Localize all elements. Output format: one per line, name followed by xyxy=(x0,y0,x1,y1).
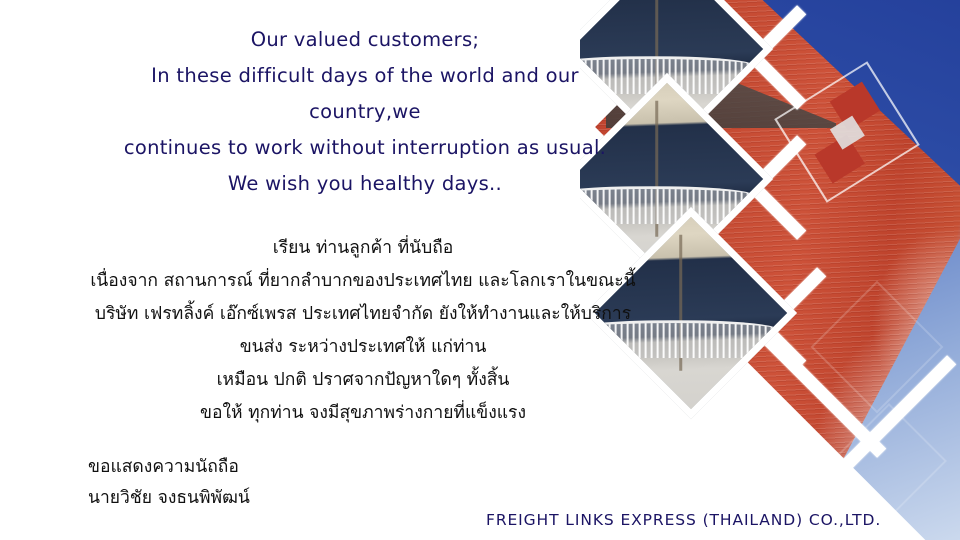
thai-line-6: ขอให้ ทุกท่าน จงมีสุขภาพร่างกายที่แข็งแร… xyxy=(0,397,726,430)
english-message: Our valued customers; In these difficult… xyxy=(0,22,730,202)
thai-line-4: ขนส่ง ระหว่างประเทศให้ แก่ท่าน xyxy=(0,331,726,364)
slide-canvas: Our valued customers; In these difficult… xyxy=(0,0,960,540)
thai-line-5: เหมือน ปกติ ปราศจากปัญหาใดๆ ทั้งสิ้น xyxy=(0,364,726,397)
sky-wedge-bottom xyxy=(780,220,960,540)
english-line-5: We wish you healthy days.. xyxy=(0,166,730,202)
english-line-4: continues to work without interruption a… xyxy=(0,130,730,166)
thai-line-1: เรียน ท่านลูกค้า ที่นับถือ xyxy=(0,232,726,265)
signature-name: นายวิชัย จงธนพิพัฒน์ xyxy=(88,483,250,514)
english-line-1: Our valued customers; xyxy=(0,22,730,58)
signature-closing: ขอแสดงความนัถถือ xyxy=(88,452,250,483)
thai-line-2: เนื่องจาก สถานการณ์ ที่ยากลำบากของประเทศ… xyxy=(0,265,726,298)
english-line-3: country,we xyxy=(0,94,730,130)
facade-ghost-chevron-1 xyxy=(811,281,944,414)
thai-message: เรียน ท่านลูกค้า ที่นับถือ เนื่องจาก สถา… xyxy=(0,232,726,430)
english-line-2: In these difficult days of the world and… xyxy=(0,58,730,94)
facade-ghost-chevron-2 xyxy=(831,403,947,519)
freight-links-diamond-logo-icon xyxy=(781,73,913,191)
company-name: FREIGHT LINKS EXPRESS (THAILAND) CO.,LTD… xyxy=(486,511,881,529)
signature-block: ขอแสดงความนัถถือ นายวิชัย จงธนพิพัฒน์ xyxy=(88,452,250,514)
thai-line-3: บริษัท เฟรทลิ้งค์ เอ๊กซ์เพรส ประเทศไทยจำ… xyxy=(0,298,726,331)
